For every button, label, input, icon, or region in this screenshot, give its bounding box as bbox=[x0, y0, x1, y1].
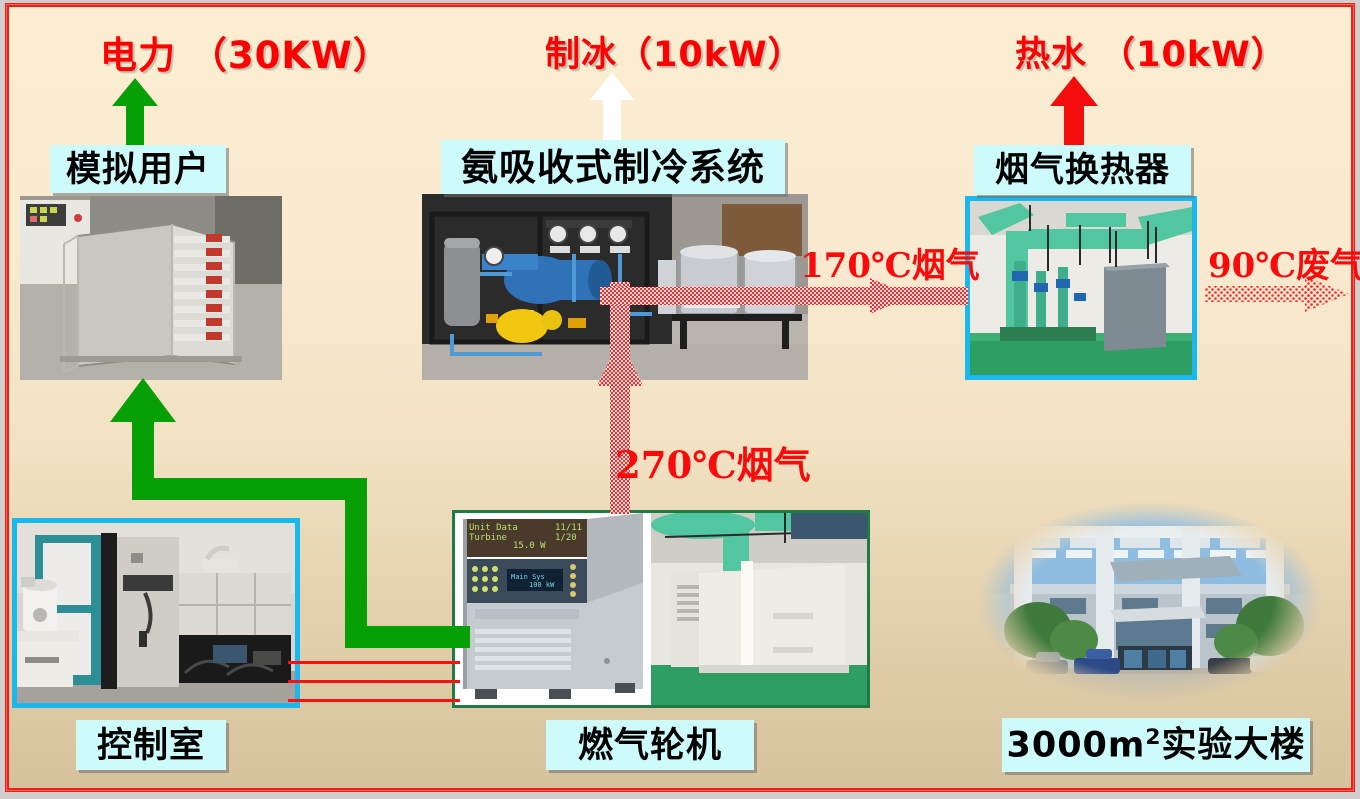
photo-lab-building bbox=[970, 498, 1330, 713]
electricity-route-arrow bbox=[100, 378, 470, 648]
photo-flue-gas-exchanger bbox=[965, 196, 1197, 380]
output-power-label: 电力 （30KW） bbox=[100, 25, 391, 79]
photo-simulated-user bbox=[20, 196, 282, 380]
annotation-flue-270: 270℃烟气 bbox=[615, 435, 811, 489]
label-lab-building: 3000m2实验大楼 bbox=[1002, 718, 1310, 772]
label-lab-building-text: 3000m2实验大楼 bbox=[1007, 727, 1306, 764]
label-simulated-user: 模拟用户 bbox=[50, 145, 226, 193]
ice-arrow-icon bbox=[588, 72, 636, 142]
annotation-flue-170: 170℃烟气 bbox=[800, 238, 980, 287]
hotwater-arrow-icon bbox=[1048, 76, 1100, 148]
output-ice-label: 制冰（10kW） bbox=[545, 26, 804, 77]
svg-text:Unit Data: Unit Data bbox=[469, 523, 518, 533]
signal-line-3 bbox=[288, 699, 460, 702]
svg-text:1/20: 1/20 bbox=[555, 533, 577, 543]
signal-line-1 bbox=[288, 661, 460, 664]
output-hotwater-label: 热水 （10kW） bbox=[1015, 26, 1287, 77]
label-gas-turbine: 燃气轮机 bbox=[546, 720, 754, 770]
svg-text:15.0 W: 15.0 W bbox=[513, 541, 546, 551]
signal-line-2 bbox=[288, 680, 460, 683]
annotation-exhaust-90: 90℃废气 bbox=[1208, 238, 1360, 287]
diagram-canvas: Unit Data Turbine 11/11 1/20 15.0 W Main… bbox=[0, 0, 1360, 799]
label-control-room: 控制室 bbox=[76, 720, 226, 770]
label-flue-gas-exchanger: 烟气换热器 bbox=[974, 145, 1191, 195]
svg-text:100 kW: 100 kW bbox=[529, 581, 555, 589]
power-arrow-icon bbox=[110, 78, 160, 148]
photo-gas-turbine: Unit Data Turbine 11/11 1/20 15.0 W Main… bbox=[452, 510, 870, 708]
svg-text:11/11: 11/11 bbox=[555, 523, 582, 533]
svg-text:Turbine: Turbine bbox=[469, 533, 507, 543]
label-ammonia-chiller: 氨吸收式制冷系统 bbox=[441, 140, 785, 194]
svg-text:Main Sys: Main Sys bbox=[511, 573, 545, 581]
slide-canvas: Unit Data Turbine 11/11 1/20 15.0 W Main… bbox=[0, 0, 1360, 799]
